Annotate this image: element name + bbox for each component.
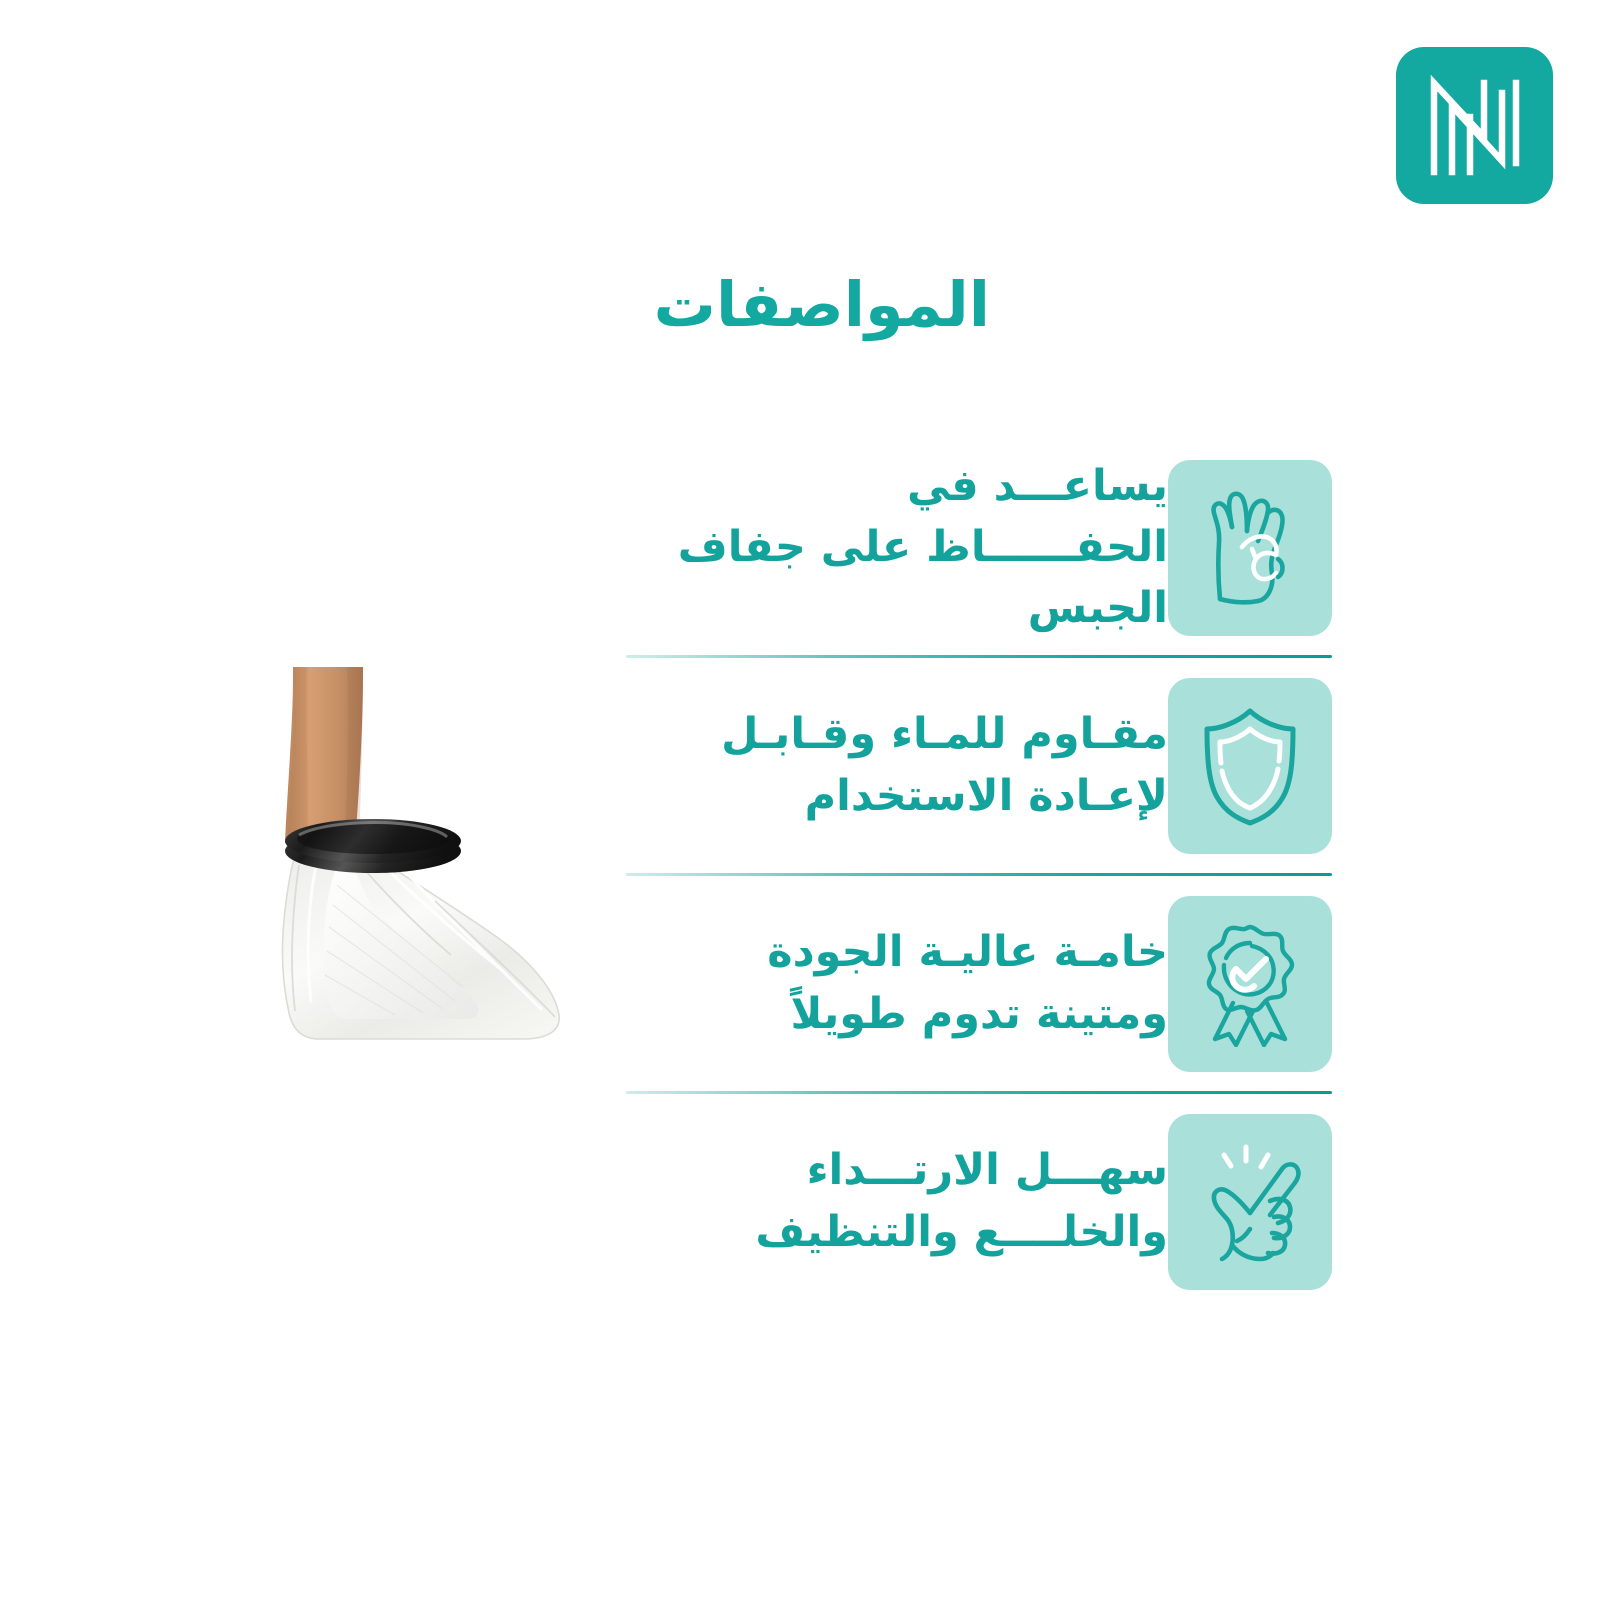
spec-icon-tile-1 [1168,460,1332,636]
product-image [255,665,600,1095]
specifications-list: يساعـــد في الحفــــــاظ على جفاف الجبس … [620,440,1332,1309]
spec-text-2: مقـاوم للمـاء وقـابـل لإعـادة الاستخدام [620,704,1168,826]
spec-row-3: خامـة عاليـة الجودة ومتينة تدوم طويلاً [620,876,1332,1091]
brand-logo [1396,47,1553,204]
spec-text-4: سهـــل الارتـــداء والخلــــع والتنظيف [620,1140,1168,1262]
spec-text-1: يساعـــد في الحفــــــاظ على جفاف الجبس [620,456,1168,639]
shield-icon [1195,705,1305,827]
spec-row-2: مقـاوم للمـاء وقـابـل لإعـادة الاستخدام [620,658,1332,873]
spec-row-1: يساعـــد في الحفــــــاظ على جفاف الجبس [620,440,1332,655]
quality-badge-check-icon [1195,921,1305,1047]
spec-row-4: سهـــل الارتـــداء والخلــــع والتنظيف [620,1094,1332,1309]
spec-icon-tile-4 [1168,1114,1332,1290]
spec-icon-tile-2 [1168,678,1332,854]
spec-text-3: خامـة عاليـة الجودة ومتينة تدوم طويلاً [620,922,1168,1044]
nahdi-n-monogram-logo-icon [1420,71,1530,181]
pointing-finger-snap-icon [1194,1139,1306,1265]
ok-hand-gesture-icon [1194,487,1306,609]
waterproof-cast-cover-on-foot-photo-icon [255,665,600,1095]
spec-icon-tile-3 [1168,896,1332,1072]
page-title: المواصفات [654,274,990,336]
